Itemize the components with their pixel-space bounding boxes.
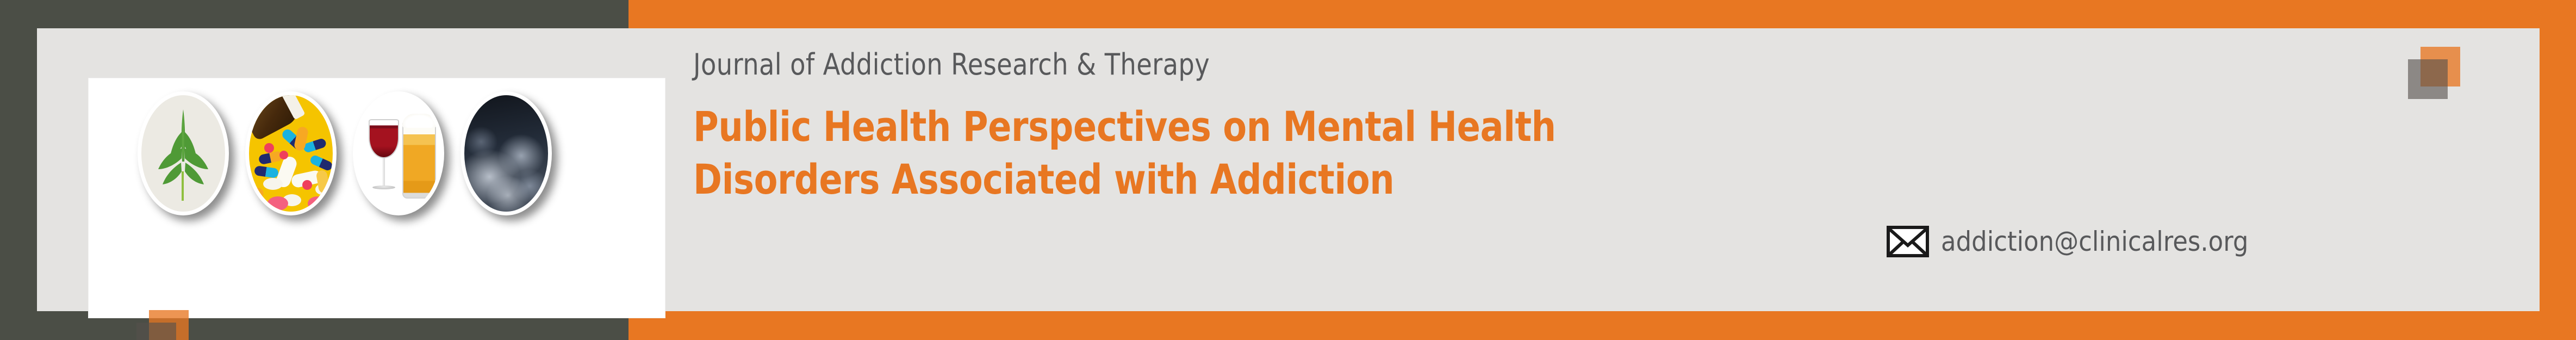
wine-glass-stem [383,158,385,187]
pill-shape [308,196,327,211]
pill-shape [279,151,288,159]
envelope-icon[interactable] [1887,226,1929,257]
wine-glass-bowl [369,119,399,158]
cannabis-leaf-svg [148,102,219,205]
pill-shape [302,180,312,190]
alcohol-icon [357,95,440,212]
pills-icon [249,95,333,212]
journal-banner: Journal of Addiction Research & Therapy … [0,0,2576,340]
oval-cannabis-leaf [138,91,229,215]
cannabis-leaf-icon [141,95,225,212]
imagery-box [89,78,665,318]
pill-shape [254,165,279,178]
content-panel: Journal of Addiction Research & Therapy … [37,28,2540,311]
decorative-squares-bottom-left [136,310,189,340]
pill-shape [263,178,283,190]
article-headline: Public Health Perspectives on Mental Hea… [693,100,2109,206]
beer-glass [402,121,436,199]
oval-image-row [138,88,659,219]
pill-shape [267,196,288,211]
decorative-square-gray [2408,59,2448,99]
pill-bottle-cap [279,95,306,120]
pill-shape [249,187,265,211]
smoke-icon [464,95,548,212]
oval-alcohol [353,91,444,215]
oval-pills [245,91,337,215]
contact-email-address[interactable]: addiction@clinicalres.org [1941,226,2248,257]
journal-title: Journal of Addiction Research & Therapy [693,50,2143,79]
contact-email-row[interactable]: addiction@clinicalres.org [1887,226,2282,257]
wine-glass-foot [372,186,395,189]
headline-line-2: Disorders Associated with Addiction [693,153,2109,206]
oval-smoke [461,91,552,215]
pill-shape [309,154,333,172]
banner-text-block: Journal of Addiction Research & Therapy … [693,50,2379,206]
headline-line-1: Public Health Perspectives on Mental Hea… [693,100,2109,153]
decorative-square-gray [136,323,176,340]
pill-shape [264,143,274,153]
decorative-squares-top-right [2408,47,2460,99]
beer-glass-foam [402,114,436,128]
